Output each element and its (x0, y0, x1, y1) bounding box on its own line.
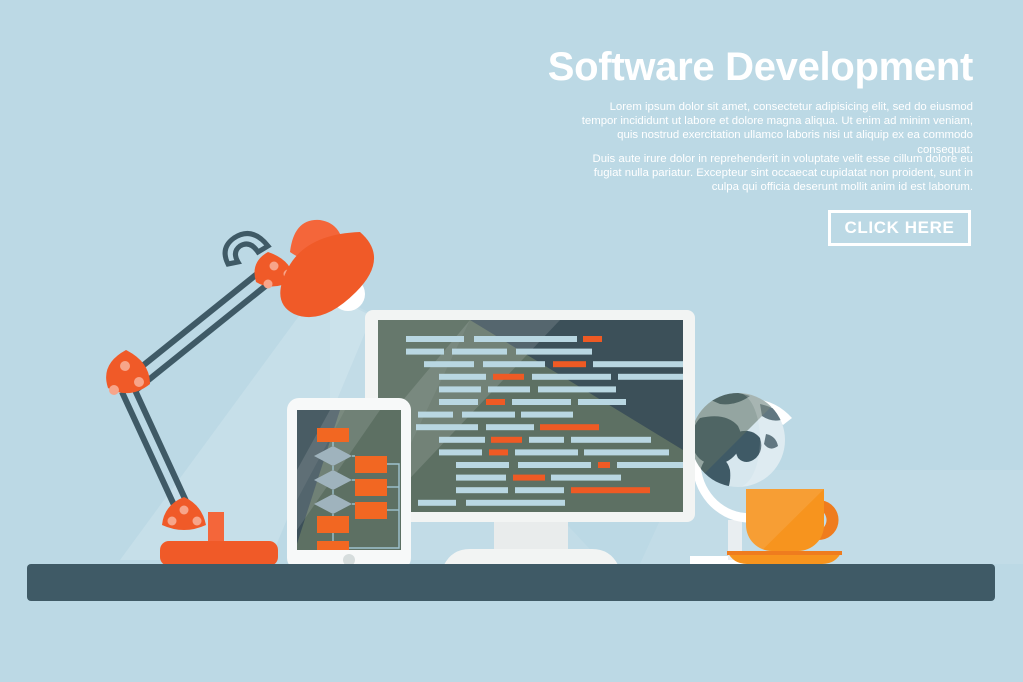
code-line-segment (418, 500, 456, 506)
code-line-segment (518, 462, 591, 468)
code-line-segment (439, 449, 482, 455)
code-line-segment (474, 336, 577, 342)
code-line-segment (439, 386, 481, 392)
flow-process-node (355, 456, 387, 473)
illustration-banner: Software Development Lorem ipsum dolor s… (0, 0, 1023, 682)
code-line-segment (617, 462, 690, 468)
code-line-segment (439, 399, 478, 405)
click-here-button[interactable]: CLICK HERE (828, 210, 971, 246)
code-line-segment (418, 412, 453, 418)
code-line-segment (452, 349, 507, 355)
code-line-segment (456, 487, 508, 493)
code-line-segment (516, 349, 592, 355)
code-line-segment (529, 437, 564, 443)
code-line-segment (553, 361, 586, 367)
code-line-segment (571, 487, 650, 493)
code-line-segment (486, 424, 534, 430)
intro-paragraph-1: Lorem ipsum dolor sit amet, consectetur … (573, 100, 973, 157)
flow-process-node (355, 502, 387, 519)
code-line-segment (406, 349, 444, 355)
code-line-segment (466, 500, 565, 506)
code-line-segment (540, 424, 599, 430)
code-line-segment (512, 399, 571, 405)
code-line-segment (521, 412, 573, 418)
flow-process-node (317, 516, 349, 533)
code-line-segment (483, 361, 545, 367)
code-line-segment (486, 399, 505, 405)
code-line-segment (488, 386, 530, 392)
code-line-segment (489, 449, 508, 455)
code-line-segment (551, 475, 621, 481)
code-line-segment (416, 424, 478, 430)
code-line-segment (515, 487, 564, 493)
page-title: Software Development (273, 46, 973, 88)
code-line-segment (618, 374, 694, 380)
flow-process-node (317, 428, 349, 442)
code-line-segment (406, 336, 464, 342)
desk-surface (27, 564, 995, 601)
code-line-segment (583, 336, 602, 342)
code-line-segment (439, 437, 485, 443)
code-line-segment (462, 412, 515, 418)
code-line-segment (493, 374, 524, 380)
code-line-segment (593, 361, 686, 367)
code-line-segment (491, 437, 522, 443)
code-line-segment (439, 374, 486, 380)
code-line-segment (456, 475, 506, 481)
code-line-segment (571, 437, 651, 443)
tablet-icon (287, 398, 411, 570)
code-line-segment (532, 374, 611, 380)
code-line-segment (598, 462, 610, 468)
code-line-segment (513, 475, 545, 481)
intro-paragraph-2: Duis aute irure dolor in reprehenderit i… (573, 152, 973, 195)
code-line-segment (584, 449, 669, 455)
code-line-segment (538, 386, 616, 392)
code-line-segment (578, 399, 626, 405)
flow-process-node (355, 479, 387, 496)
code-line-segment (456, 462, 509, 468)
code-line-segment (424, 361, 474, 367)
code-line-segment (515, 449, 578, 455)
